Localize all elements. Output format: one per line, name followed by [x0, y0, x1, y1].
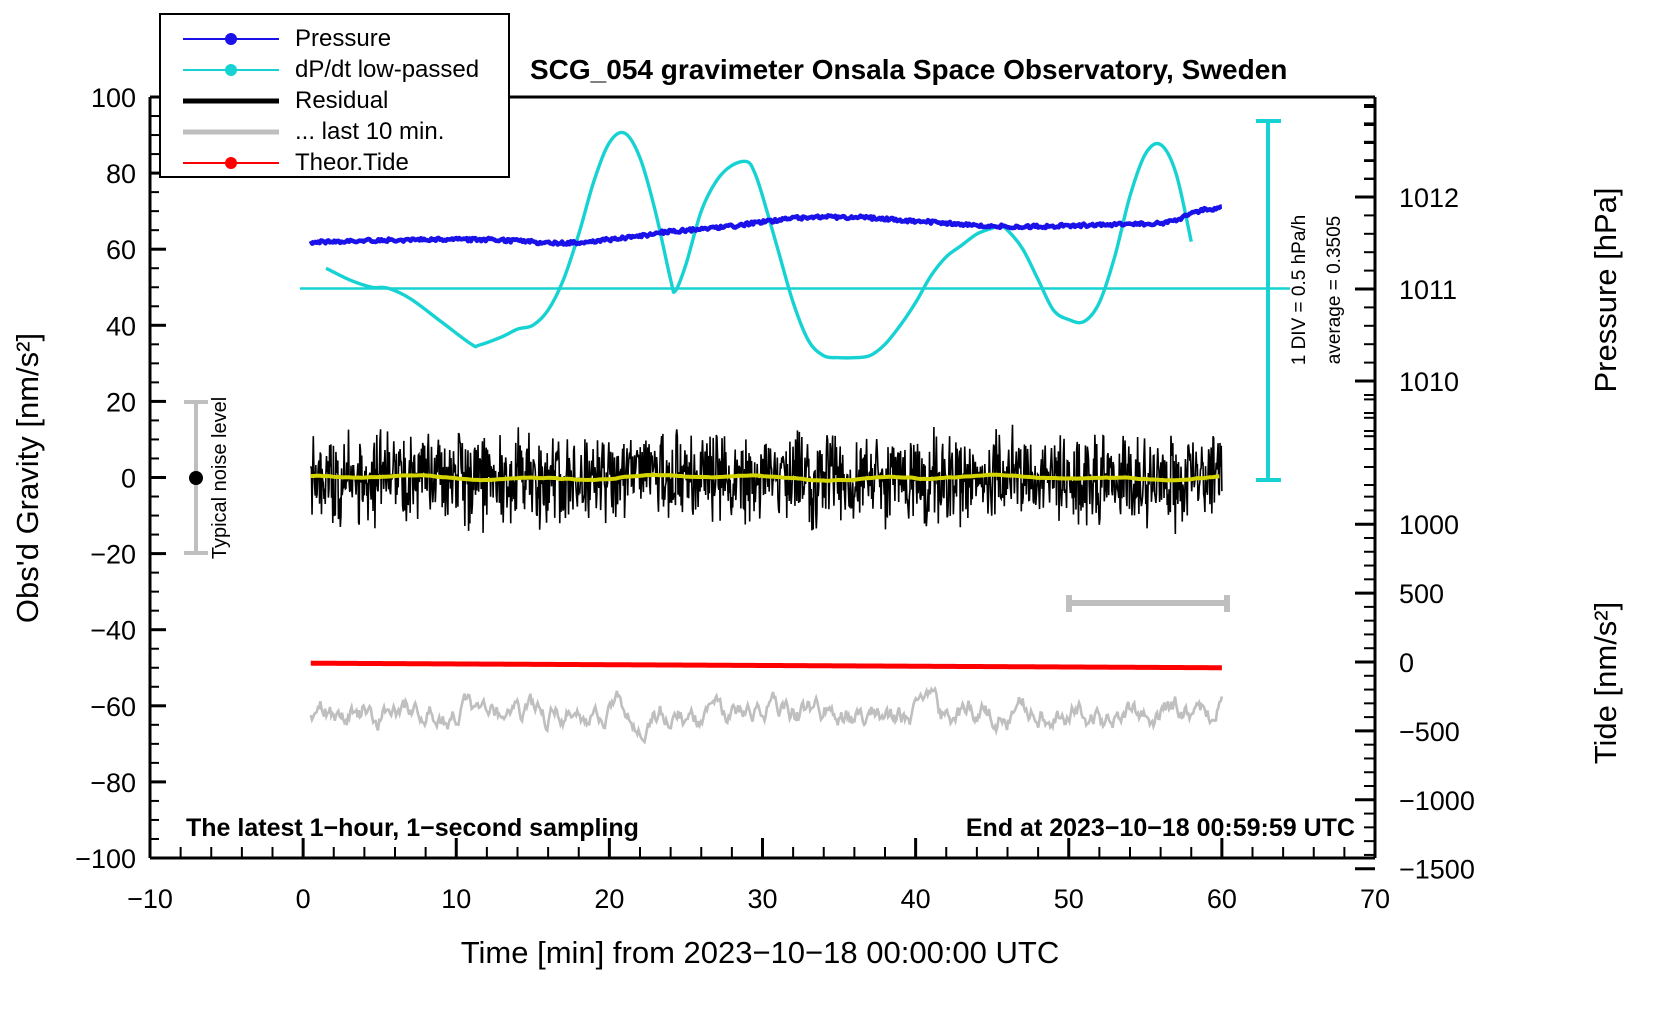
bottom-tick-label: −10 — [127, 884, 173, 914]
chart-stage: SCG_054 gravimeter Onsala Space Observat… — [0, 0, 1660, 1020]
tide-tick-label: −1500 — [1399, 855, 1475, 885]
tide-tick-label: 1000 — [1399, 510, 1459, 540]
left-tick-label: 20 — [106, 387, 136, 417]
right-axis-minor-ticks — [1364, 105, 1375, 855]
left-tick-label: −20 — [90, 540, 136, 570]
theoretical-tide-trace — [311, 663, 1222, 668]
bottom-tick-label: 10 — [441, 884, 471, 914]
legend-residual-swatch — [183, 85, 279, 116]
footer-right-note: End at 2023−10−18 00:59:59 UTC — [966, 814, 1355, 842]
left-tick-label: −60 — [90, 692, 136, 722]
legend-residual-label: Residual — [279, 85, 388, 116]
bottom-tick-label: 60 — [1207, 884, 1237, 914]
typical-noise-level-label: Typical noise level — [209, 397, 231, 559]
tide-tick-label: 0 — [1399, 648, 1414, 678]
legend-tide-label: Theor.Tide — [279, 147, 409, 178]
last-10-min-span-bar — [1068, 595, 1228, 612]
legend-dpdt-marker-icon — [225, 64, 237, 76]
legend-tide-swatch — [183, 147, 279, 178]
bottom-tick-label: 0 — [296, 884, 311, 914]
legend-dpdt-swatch — [183, 54, 279, 85]
legend-tide[interactable]: Theor.Tide — [161, 147, 508, 178]
legend-pressure-swatch — [183, 23, 279, 54]
left-tick-label: −100 — [75, 844, 136, 874]
tide-tick-label: −500 — [1399, 717, 1460, 747]
bottom-tick-label: 30 — [747, 884, 777, 914]
bottom-tick-label: 20 — [594, 884, 624, 914]
legend-dpdt-label: dP/dt low-passed — [279, 54, 479, 85]
right-tide-axis-label: Tide [nm/s²] — [1588, 602, 1623, 765]
bottom-tick-label: 40 — [901, 884, 931, 914]
legend-last10-swatch — [183, 116, 279, 147]
legend-residual-line — [183, 98, 279, 103]
last-10-min-trace — [311, 689, 1222, 742]
bottom-axis-tick-labels: −10010203040506070 — [127, 884, 1390, 914]
left-tick-label: 80 — [106, 159, 136, 189]
legend-pressure-marker-icon — [225, 33, 237, 45]
legend-tide-marker-icon — [225, 157, 237, 169]
tide-tick-label: 500 — [1399, 579, 1444, 609]
left-tick-label: 100 — [91, 83, 136, 113]
legend-box: PressuredP/dt low-passedResidual... last… — [159, 13, 510, 178]
right-pressure-axis-label: Pressure [hPa] — [1588, 187, 1623, 392]
footer-left-note: The latest 1−hour, 1−second sampling — [186, 814, 639, 842]
left-tick-label: −40 — [90, 616, 136, 646]
tide-axis-tick-labels: 10005000−500−1000−1500 — [1399, 510, 1475, 885]
left-axis-label: Obs'd Gravity [nm/s²] — [10, 333, 45, 623]
page-title: SCG_054 gravimeter Onsala Space Observat… — [530, 54, 1287, 85]
left-axis-tick-labels: 100806040200−20−40−60−80−100 — [75, 83, 136, 874]
legend-dpdt[interactable]: dP/dt low-passed — [161, 54, 508, 85]
bottom-tick-label: 70 — [1360, 884, 1390, 914]
bottom-axis-label: Time [min] from 2023−10−18 00:00:00 UTC — [461, 935, 1060, 970]
dpdt-scale-bar — [1256, 120, 1281, 481]
legend-pressure-label: Pressure — [279, 23, 391, 54]
left-tick-label: 0 — [121, 464, 136, 494]
pressure-tick-label: 1011 — [1399, 275, 1457, 305]
pressure-tick-label: 1012 — [1399, 183, 1459, 213]
bottom-tick-label: 50 — [1054, 884, 1084, 914]
legend-pressure[interactable]: Pressure — [161, 23, 508, 54]
legend-last10-label: ... last 10 min. — [279, 116, 444, 147]
legend-last10-line — [183, 129, 279, 134]
pressure-tick-label: 1010 — [1399, 367, 1459, 397]
left-tick-label: −80 — [90, 768, 136, 798]
pressure-axis-tick-labels: 101210111010 — [1399, 183, 1459, 397]
left-tick-label: 40 — [106, 311, 136, 341]
left-tick-label: 60 — [106, 235, 136, 265]
average-label: average = 0.3505 — [1324, 216, 1345, 364]
tide-tick-label: −1000 — [1399, 786, 1475, 816]
legend-last10[interactable]: ... last 10 min. — [161, 116, 508, 147]
legend-residual[interactable]: Residual — [161, 85, 508, 116]
typical-noise-level-marker — [184, 401, 208, 554]
div-scale-label: 1 DIV = 0.5 hPa/h — [1289, 215, 1310, 366]
right-axis-ticks — [1355, 197, 1375, 869]
